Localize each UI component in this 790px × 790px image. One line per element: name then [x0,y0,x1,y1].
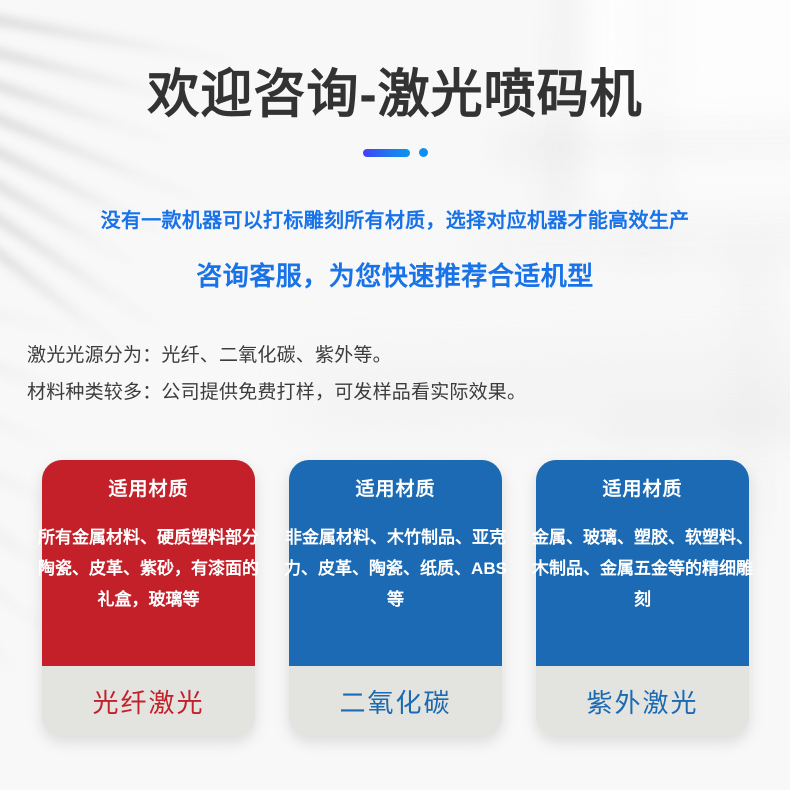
material-cards-group: 适用材质 所有金属材料、硬质塑料部分陶瓷、皮革、紫砂，有漆面的礼盒，玻璃等 光纤… [42,460,749,736]
subtitle-primary: 没有一款机器可以打标雕刻所有材质，选择对应机器才能高效生产 [0,204,790,233]
card-title: 适用材质 [536,478,749,502]
card-footer[interactable]: 二氧化碳 [289,666,502,736]
card-footer-label: 二氧化碳 [339,683,451,720]
divider-dot-icon [419,148,428,157]
card-title: 适用材质 [42,478,255,502]
material-card-uv-laser[interactable]: 适用材质 金属、玻璃、塑胶、软塑料、木制品、金属五金等的精细雕刻 紫外激光 [536,460,749,736]
material-card-co2-laser[interactable]: 适用材质 非金属材料、木竹制品、亚克力、皮革、陶瓷、纸质、ABS等 二氧化碳 [289,460,502,736]
card-footer-label: 光纤激光 [92,683,204,720]
card-footer-label: 紫外激光 [586,683,698,720]
title-divider [0,148,790,157]
card-material-list: 金属、玻璃、塑胶、软塑料、木制品、金属五金等的精细雕刻 [530,522,755,615]
page-title: 欢迎咨询-激光喷码机 [0,64,790,126]
info-line-laser-sources: 激光光源分为：光纤、二氧化碳、紫外等。 [27,340,392,367]
divider-bar-icon [363,149,410,157]
card-footer[interactable]: 光纤激光 [42,666,255,736]
promo-banner: 欢迎咨询-激光喷码机 没有一款机器可以打标雕刻所有材质，选择对应机器才能高效生产… [0,0,790,790]
info-line-sampling: 材料种类较多：公司提供免费打样，可发样品看实际效果。 [27,377,526,404]
card-title: 适用材质 [289,478,502,502]
card-header: 适用材质 金属、玻璃、塑胶、软塑料、木制品、金属五金等的精细雕刻 [536,460,749,666]
card-header: 适用材质 非金属材料、木竹制品、亚克力、皮革、陶瓷、纸质、ABS等 [289,460,502,666]
card-material-list: 所有金属材料、硬质塑料部分陶瓷、皮革、紫砂，有漆面的礼盒，玻璃等 [36,522,261,615]
card-header: 适用材质 所有金属材料、硬质塑料部分陶瓷、皮革、紫砂，有漆面的礼盒，玻璃等 [42,460,255,666]
subtitle-cta: 咨询客服，为您快速推荐合适机型 [0,256,790,293]
card-material-list: 非金属材料、木竹制品、亚克力、皮革、陶瓷、纸质、ABS等 [283,522,508,615]
material-card-fiber-laser[interactable]: 适用材质 所有金属材料、硬质塑料部分陶瓷、皮革、紫砂，有漆面的礼盒，玻璃等 光纤… [42,460,255,736]
card-footer[interactable]: 紫外激光 [536,666,749,736]
